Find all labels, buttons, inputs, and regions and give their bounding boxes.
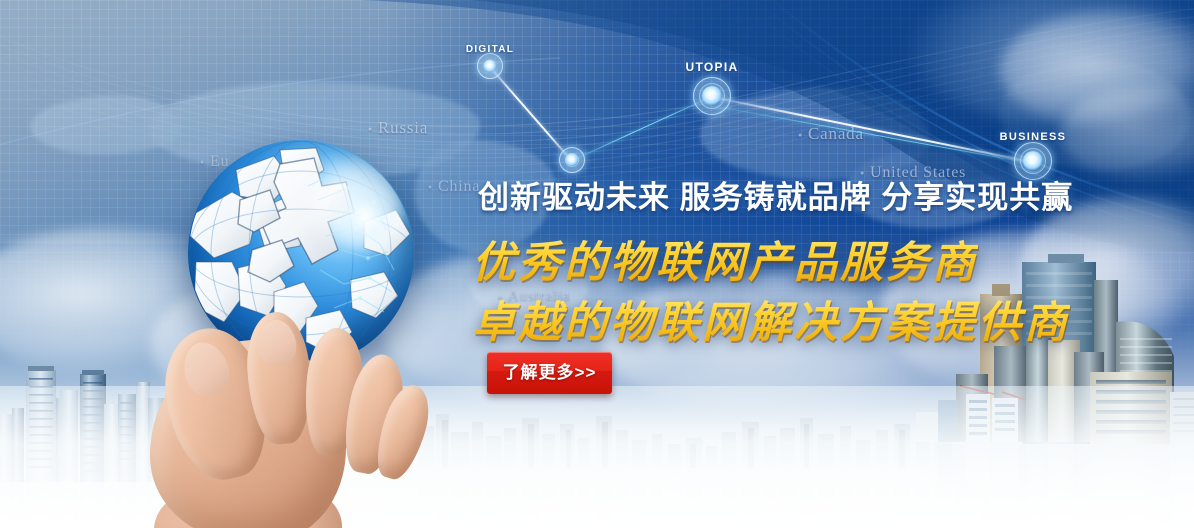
node-core-glow xyxy=(566,154,579,167)
network-node-relay[interactable] xyxy=(557,145,587,175)
node-core-glow xyxy=(702,86,722,106)
network-node-digital[interactable] xyxy=(475,51,505,81)
network-node-label-digital: DIGITAL xyxy=(466,44,514,55)
network-node-utopia[interactable] xyxy=(691,75,733,117)
node-core-glow xyxy=(484,60,497,73)
tagline-headline: 创新驱动未来 服务铸就品牌 分享实现共赢 xyxy=(478,172,1073,217)
hand-holding-globe xyxy=(80,132,440,528)
globe-highlight xyxy=(326,178,404,256)
learn-more-button[interactable]: 了解更多>> xyxy=(487,352,612,394)
network-node-label-business: BUSINESS xyxy=(1000,131,1067,143)
hero-banner: Russia Eu China Canada United States Aus… xyxy=(0,0,1194,528)
network-node-label-utopia: UTOPIA xyxy=(686,60,739,74)
node-core-glow xyxy=(1023,151,1043,171)
gold-headline-line-2: 卓越的物联网解决方案提供商 xyxy=(472,288,1070,350)
gold-headline-line-1: 优秀的物联网产品服务商 xyxy=(472,228,978,290)
